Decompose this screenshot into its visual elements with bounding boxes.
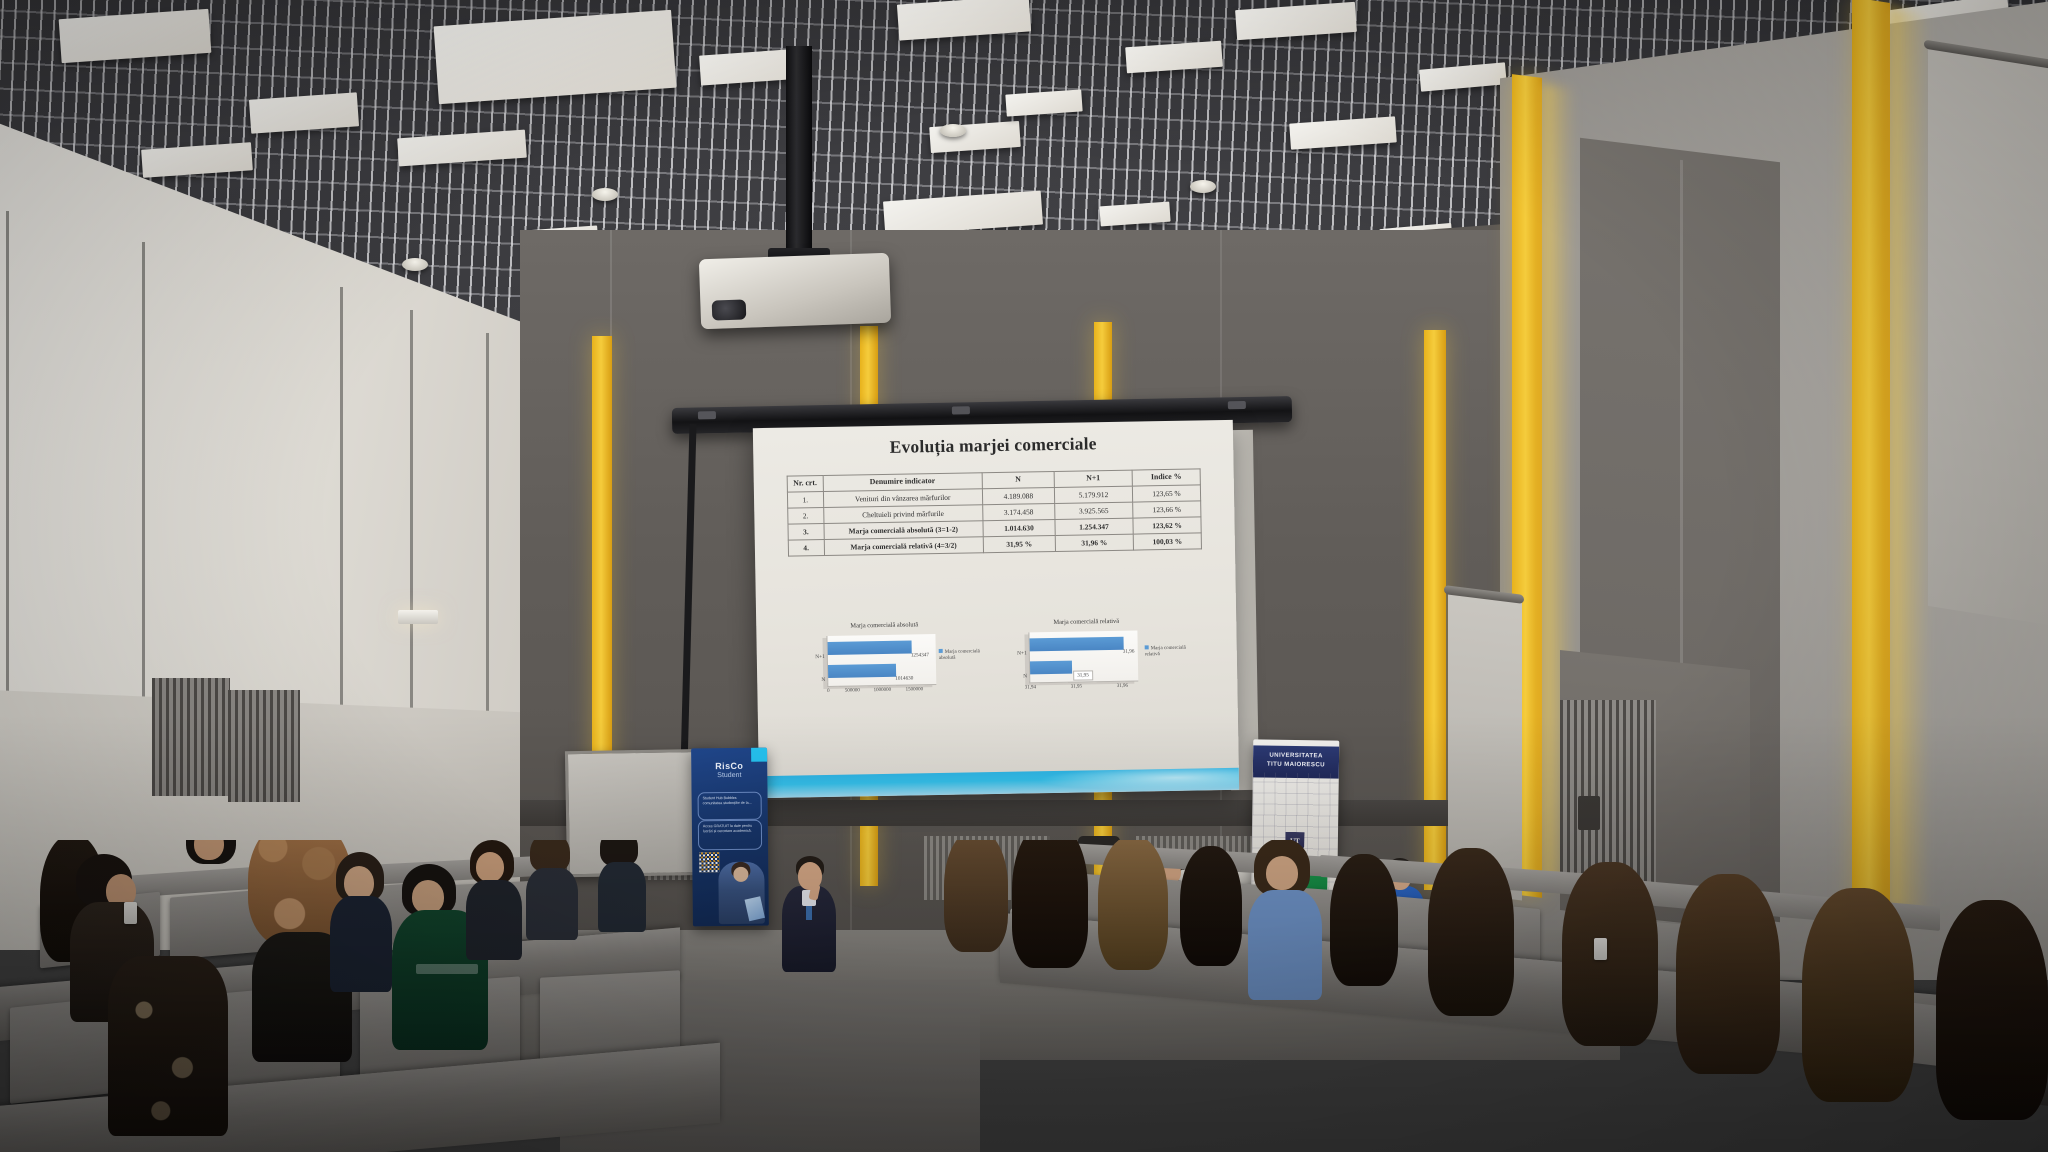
chart-x-tick: 31,96	[1107, 684, 1137, 690]
person-hair	[1330, 854, 1398, 986]
bar-n-plus-1	[828, 640, 912, 654]
legend-swatch	[1145, 645, 1149, 649]
legend-swatch	[939, 649, 943, 653]
person-body	[330, 896, 392, 992]
chart-marja-absoluta: Marja comercială absolută N+1 N 1254347 …	[786, 620, 983, 705]
yellow-accent-column	[1852, 0, 1890, 933]
slide-title: Evoluția marjei comerciale	[753, 431, 1233, 460]
chart-category-label: N+1	[809, 654, 825, 660]
chart-x-tick: 31,94	[1015, 685, 1045, 691]
chart-marja-relativa: Marja comercială relativă N+1 N 31,96 31…	[988, 617, 1185, 702]
ceiling-downlight	[1190, 180, 1216, 193]
audience-seating	[0, 840, 2048, 1152]
phone-screen	[124, 902, 137, 924]
cell-indice: 123,66 %	[1133, 501, 1201, 518]
person-hair	[1012, 840, 1088, 968]
banner-brand: RisCo	[691, 761, 767, 772]
wall-sconce	[398, 610, 438, 624]
cell-n1: 3.925.565	[1055, 502, 1133, 519]
person-head	[344, 866, 374, 900]
cell-n: 1.014.630	[983, 520, 1055, 537]
bar-n	[1030, 661, 1072, 675]
chart-data-label: 31,95	[1073, 670, 1093, 680]
th-indice: Indice %	[1132, 469, 1200, 487]
screen-case-cap	[1228, 401, 1246, 409]
person-hair	[944, 840, 1008, 952]
person-hair	[1802, 888, 1914, 1102]
person-head	[476, 852, 504, 882]
person-hair	[1936, 900, 2048, 1120]
cell-indicator: Marja comercială relativă (4=3/2)	[824, 537, 984, 556]
phone-screen	[1594, 938, 1607, 960]
chart-x-tick: 500000	[837, 688, 867, 694]
cell-n1: 1.254.347	[1055, 518, 1133, 535]
cell-indice: 100,03 %	[1133, 533, 1201, 550]
person-head	[535, 842, 561, 870]
wall-speaker	[1578, 796, 1600, 830]
chart-data-label: 1254347	[911, 652, 929, 658]
presentation-slide: Evoluția marjei comerciale Nr. crt. Denu…	[753, 420, 1239, 798]
cell-n: 31,95 %	[983, 536, 1055, 553]
person-body	[466, 880, 522, 960]
person-hair	[1098, 840, 1168, 970]
ceiling-downlight	[940, 124, 966, 137]
th-n-plus-1: N+1	[1054, 470, 1132, 488]
chart-title: Marja comercială relativă	[988, 617, 1184, 627]
chart-legend: Marja comercială absolută	[939, 648, 983, 662]
person-body	[1248, 890, 1322, 1000]
th-nr-crt: Nr. crt.	[787, 476, 823, 493]
cell-nr: 2.	[788, 508, 824, 525]
ceiling-downlight	[402, 258, 428, 271]
wall-louver-vent	[228, 690, 300, 802]
window-roller-blind[interactable]	[1928, 46, 2048, 626]
person-hair	[1676, 874, 1780, 1074]
bar-n	[828, 664, 896, 678]
projection-screen: Evoluția marjei comerciale Nr. crt. Denu…	[753, 420, 1239, 798]
screen-case-cap	[698, 411, 716, 419]
chart-category-label: N+1	[1011, 650, 1027, 656]
banner-pill-1: Student Hub Bubbles comunitatea studenți…	[698, 792, 762, 821]
cell-n: 4.189.088	[982, 488, 1054, 505]
person-body	[526, 868, 578, 940]
cell-nr: 3.	[788, 524, 824, 541]
cell-n1: 5.179.912	[1054, 486, 1132, 503]
person-head	[1266, 856, 1298, 890]
legend-label: Marja comercială absolută	[939, 649, 980, 661]
legend-label: Marja comercială relativă	[1145, 646, 1186, 658]
chart-legend: Marja comercială relativă	[1145, 645, 1189, 659]
chart-category-label: N	[809, 677, 825, 683]
person-body-patterned	[108, 956, 228, 1136]
cell-nr: 1.	[787, 492, 823, 509]
cell-n: 3.174.458	[983, 504, 1055, 521]
chart-category-label: N	[1011, 673, 1027, 679]
chart-plot-area	[826, 634, 936, 687]
yellow-accent-column	[592, 336, 612, 806]
person-hair	[1428, 848, 1514, 1016]
cell-nr: 4.	[788, 540, 824, 557]
chart-title: Marja comercială absolută	[786, 620, 982, 630]
person-hair	[1562, 862, 1658, 1046]
cell-indice: 123,62 %	[1133, 517, 1201, 534]
person-head	[412, 880, 444, 914]
chart-data-label: 1014630	[895, 675, 913, 681]
projector-mount-pole	[786, 46, 812, 266]
projector-lens	[712, 299, 747, 320]
lecture-hall-photo: Evoluția marjei comerciale Nr. crt. Denu…	[0, 0, 2048, 1152]
wall-louver-vent	[152, 678, 230, 796]
chart-x-tick: 1000000	[867, 688, 897, 694]
chart-x-tick: 31,95	[1061, 684, 1091, 690]
yellow-accent-glow	[1890, 7, 1930, 913]
ceiling-downlight	[592, 188, 618, 201]
hoodie-text	[416, 964, 478, 974]
bar-n-plus-1	[1030, 637, 1124, 652]
chart-data-label: 31,96	[1123, 649, 1135, 655]
banner-subtitle: Student	[691, 772, 767, 780]
th-n: N	[982, 471, 1054, 489]
chart-x-tick: 1500000	[899, 687, 929, 693]
person-hair	[1180, 846, 1242, 966]
cell-indice: 123,65 %	[1132, 485, 1200, 502]
person-body	[598, 862, 646, 932]
cell-n1: 31,96 %	[1055, 534, 1133, 551]
ceiling-light-panel	[434, 10, 677, 104]
screen-case-cap	[952, 406, 970, 414]
slide-data-table: Nr. crt. Denumire indicator N N+1 Indice…	[787, 468, 1202, 556]
banner-university-line2: TITU MAIORESCU	[1253, 760, 1339, 770]
